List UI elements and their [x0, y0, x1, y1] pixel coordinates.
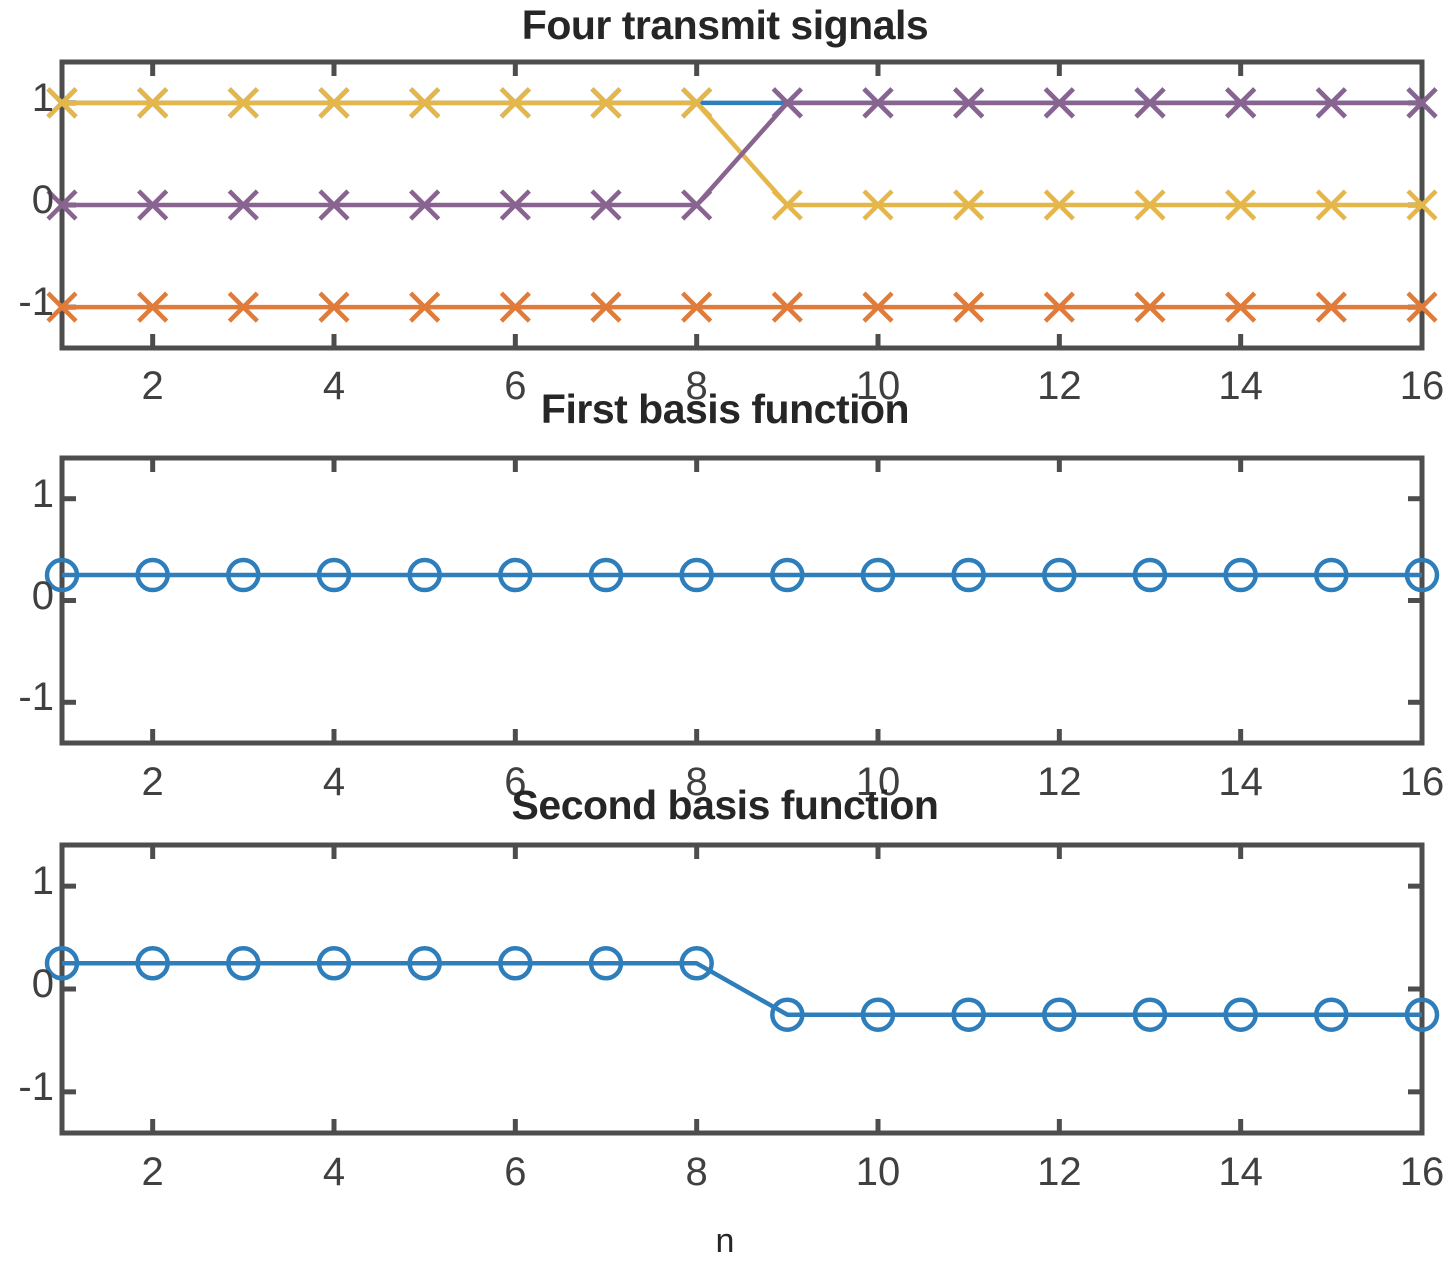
- matlab-figure: Four transmit signals 10-1246810121416 F…: [0, 0, 1450, 1275]
- y-tick-label: 0: [2, 962, 54, 1007]
- series-line: [62, 963, 1422, 1014]
- y-tick-label: 1: [2, 472, 54, 517]
- y-tick-label: -1: [2, 280, 54, 325]
- x-axis-label: n: [0, 1222, 1450, 1261]
- y-tick-label: 1: [2, 76, 54, 121]
- axes-3: [0, 0, 1450, 1275]
- subplot-title-1: Four transmit signals: [0, 2, 1450, 49]
- subplot-title-2: First basis function: [0, 386, 1450, 433]
- y-tick-label: 0: [2, 178, 54, 223]
- y-tick-label: 0: [2, 574, 54, 619]
- y-tick-label: 1: [2, 859, 54, 904]
- y-tick-label: -1: [2, 675, 54, 720]
- y-tick-label: -1: [2, 1065, 54, 1110]
- subplot-title-3: Second basis function: [0, 782, 1450, 829]
